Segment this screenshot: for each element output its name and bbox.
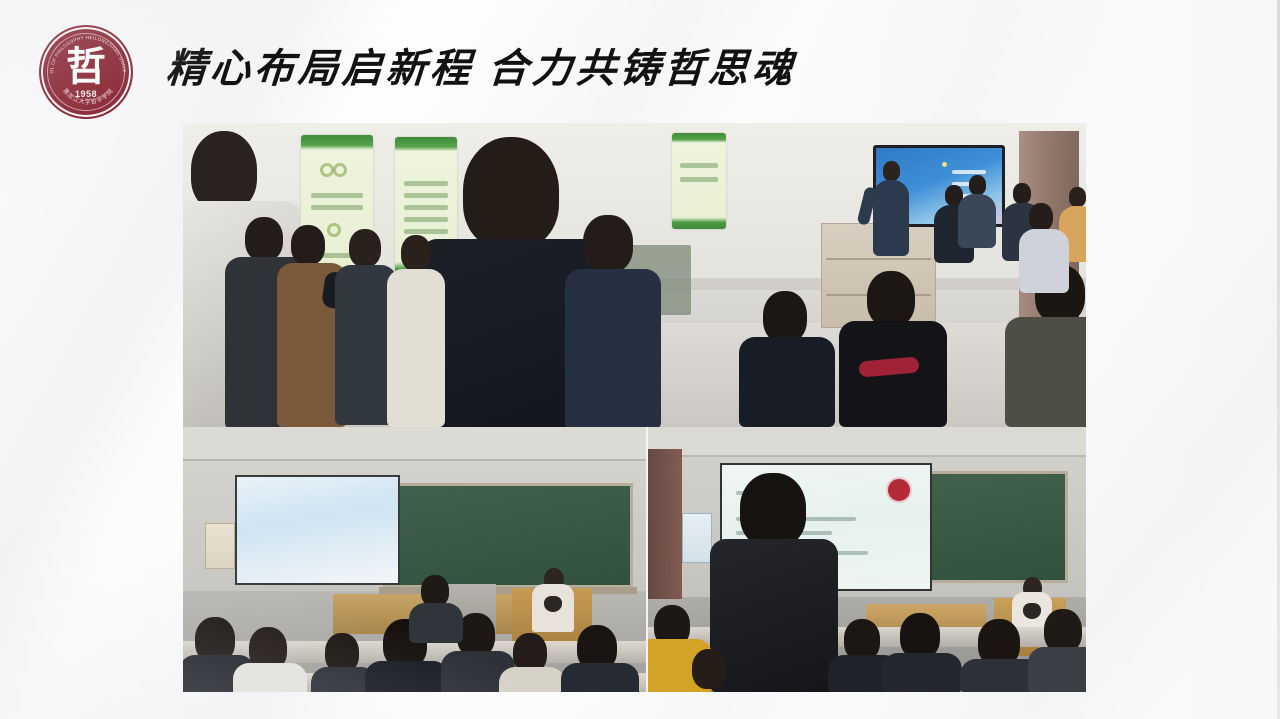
blackboard bbox=[383, 483, 633, 588]
collage-photo-bottom-right bbox=[648, 427, 1086, 692]
collage-photo-bottom-left bbox=[183, 427, 648, 692]
seal-center-character: 哲 bbox=[41, 47, 131, 87]
photo-collage bbox=[183, 123, 1086, 692]
wall-notice-board bbox=[205, 523, 235, 569]
wall-notice-board bbox=[682, 513, 712, 563]
chalk-tray bbox=[379, 587, 637, 594]
collage-photo-top bbox=[183, 123, 1086, 427]
collage-bottom-row bbox=[183, 427, 1086, 692]
seal-badge: SCHOOL OF PHILOSOPHY HEILONGJIANG UNIVER… bbox=[39, 25, 133, 119]
ceiling bbox=[648, 427, 1086, 457]
speaker-body bbox=[532, 584, 574, 632]
wall-poster bbox=[672, 133, 726, 229]
seal-founding-year: 1958 bbox=[41, 89, 131, 99]
slide-canvas: SCHOOL OF PHILOSOPHY HEILONGJIANG UNIVER… bbox=[0, 0, 1280, 719]
classroom-presentation-photo bbox=[648, 427, 1086, 692]
group-activity-photo bbox=[183, 123, 1086, 427]
projection-screen bbox=[235, 475, 400, 585]
door-column bbox=[648, 449, 682, 599]
university-logo: SCHOOL OF PHILOSOPHY HEILONGJIANG UNIVER… bbox=[39, 25, 133, 119]
slide-title: 精心布局启新程 合力共铸哲思魂 bbox=[164, 44, 797, 94]
lecture-hall-photo bbox=[183, 427, 646, 692]
slide-emblem-icon bbox=[886, 477, 912, 503]
ceiling bbox=[183, 427, 646, 461]
